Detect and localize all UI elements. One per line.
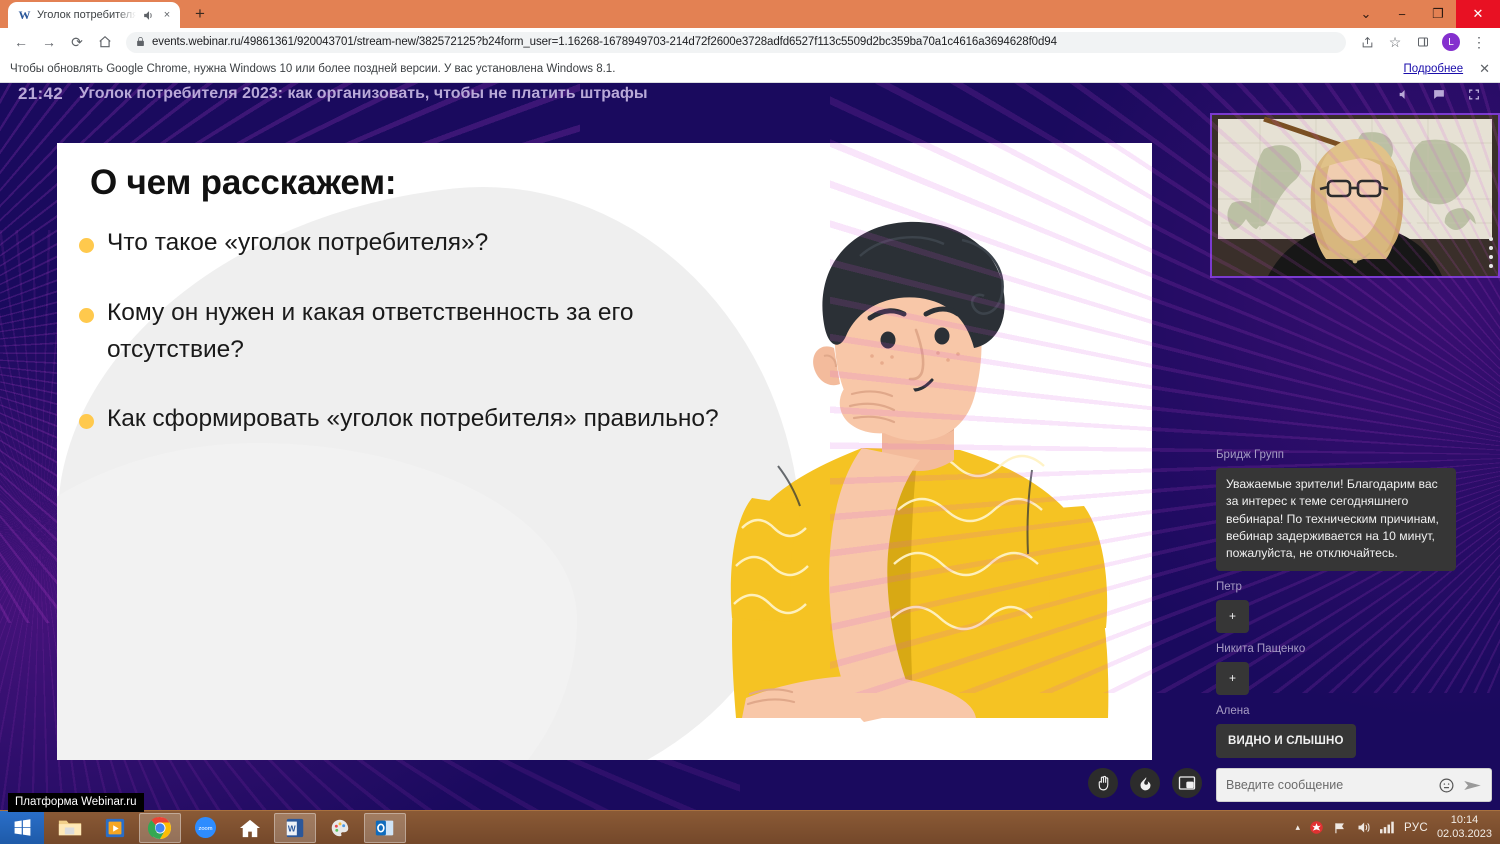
- tray-expand-icon[interactable]: ▴: [1295, 822, 1300, 833]
- chat-bubble: видно и слышно: [1216, 724, 1356, 758]
- new-tab-button[interactable]: +: [190, 4, 210, 24]
- taskbar-app-google-chrome[interactable]: [139, 813, 181, 843]
- slide-bullet-list: Что такое «уголок потребителя»? Кому он …: [79, 225, 719, 471]
- bullet-dot-icon: [79, 414, 94, 429]
- profile-avatar[interactable]: L: [1438, 29, 1464, 55]
- clock-date: 02.03.2023: [1437, 828, 1492, 842]
- security-alert-icon[interactable]: [1309, 820, 1324, 835]
- taskbar-app-home[interactable]: [229, 813, 271, 843]
- update-infobar: Чтобы обновлять Google Chrome, нужна Win…: [0, 56, 1500, 83]
- presenter-video-tile[interactable]: [1210, 113, 1500, 278]
- slide-bullet-item: Как сформировать «уголок потребителя» пр…: [79, 401, 719, 438]
- chat-author: Бридж Групп: [1216, 449, 1492, 461]
- taskbar-app-outlook[interactable]: [364, 813, 406, 843]
- taskbar-apps: zoom W: [44, 813, 406, 843]
- slide-bullet-text: Как сформировать «уголок потребителя» пр…: [107, 401, 719, 438]
- chat-author: Алена: [1216, 705, 1492, 717]
- browser-tab[interactable]: W Уголок потребителя 2023: к ×: [8, 2, 180, 28]
- language-indicator[interactable]: РУС: [1404, 822, 1428, 834]
- speaker-icon[interactable]: [1395, 87, 1412, 101]
- forward-icon[interactable]: →: [36, 29, 62, 55]
- bullet-dot-icon: [79, 308, 94, 323]
- chat-message: Петр +: [1216, 581, 1492, 633]
- browser-menu-icon[interactable]: ⋮: [1466, 29, 1492, 55]
- address-bar-url: events.webinar.ru/49861361/920043701/str…: [152, 36, 1057, 48]
- share-icon[interactable]: [1354, 29, 1380, 55]
- chat-bubble: Уважаемые зрители! Благодарим вас за инт…: [1216, 468, 1456, 571]
- video-tile-menu-dots-icon[interactable]: [1489, 237, 1493, 268]
- fullscreen-icon[interactable]: [1465, 87, 1482, 101]
- taskbar-app-media-player[interactable]: [94, 813, 136, 843]
- taskbar-app-zoom[interactable]: zoom: [184, 813, 226, 843]
- address-bar[interactable]: events.webinar.ru/49861361/920043701/str…: [126, 32, 1346, 53]
- infobar-more-link[interactable]: Подробнее: [1403, 63, 1463, 75]
- browser-tab-title: Уголок потребителя 2023: к: [37, 9, 136, 21]
- stream-header-icons: [1395, 87, 1482, 101]
- system-tray: ▴: [1295, 814, 1500, 842]
- bookmark-star-icon[interactable]: ☆: [1382, 29, 1408, 55]
- infobar-message: Чтобы обновлять Google Chrome, нужна Win…: [10, 63, 1403, 75]
- side-panel-icon[interactable]: [1410, 29, 1436, 55]
- back-icon[interactable]: ←: [8, 29, 34, 55]
- reload-icon[interactable]: ⟳: [64, 29, 90, 55]
- volume-icon[interactable]: [1356, 820, 1371, 835]
- infobar-close-icon[interactable]: ✕: [1479, 61, 1490, 77]
- chat-message: Никита Пащенко +: [1216, 643, 1492, 695]
- taskbar-tooltip: Платформа Webinar.ru: [8, 793, 144, 812]
- maximize-button[interactable]: ❐: [1420, 0, 1456, 28]
- close-window-button[interactable]: ✕: [1456, 0, 1500, 28]
- bullet-dot-icon: [79, 238, 94, 253]
- chat-message: Бридж Групп Уважаемые зрители! Благодари…: [1216, 449, 1492, 571]
- flag-icon[interactable]: [1333, 821, 1347, 835]
- thinking-man-illustration: [712, 198, 1132, 758]
- windows-taskbar: zoom W: [0, 810, 1500, 844]
- chat-author: Никита Пащенко: [1216, 643, 1492, 655]
- slide-bullet-text: Что такое «уголок потребителя»?: [107, 225, 488, 262]
- network-icon[interactable]: [1380, 821, 1395, 834]
- slide-bullet-item: Что такое «уголок потребителя»?: [79, 225, 719, 262]
- chat-input-row[interactable]: Введите сообщение: [1216, 768, 1492, 802]
- chat-panel: Бридж Групп Уважаемые зрители! Благодари…: [1208, 393, 1500, 810]
- webinar-page: 21:42 Уголок потребителя 2023: как орган…: [0, 83, 1500, 810]
- browser-toolbar: ← → ⟳ events.webinar.ru/49861361/9200437…: [0, 28, 1500, 56]
- taskbar-app-microsoft-word[interactable]: W: [274, 813, 316, 843]
- minimize-button[interactable]: −: [1384, 0, 1420, 28]
- emoji-icon[interactable]: [1438, 777, 1455, 794]
- tab-search-chevron-icon[interactable]: ⌄: [1348, 0, 1384, 28]
- picture-in-picture-button[interactable]: [1172, 768, 1202, 798]
- chat-bubble: +: [1216, 662, 1249, 695]
- tab-close-icon[interactable]: ×: [160, 8, 174, 22]
- slide-bullet-item: Кому он нужен и какая ответственность за…: [79, 295, 719, 369]
- send-icon[interactable]: [1463, 778, 1482, 793]
- reaction-fire-button[interactable]: [1130, 768, 1160, 798]
- window-controls: ⌄ − ❐ ✕: [1348, 0, 1500, 28]
- windows-start-icon[interactable]: [0, 811, 44, 844]
- screen: W Уголок потребителя 2023: к × + ⌄ − ❐ ✕…: [0, 0, 1500, 844]
- chat-bubble: +: [1216, 600, 1249, 633]
- raise-hand-button[interactable]: [1088, 768, 1118, 798]
- taskbar-app-paint[interactable]: [319, 813, 361, 843]
- svg-text:zoom: zoom: [198, 826, 212, 832]
- clock-time: 10:14: [1437, 814, 1492, 828]
- stream-timer: 21:42: [18, 84, 63, 104]
- stream-controls: [1088, 768, 1202, 798]
- chat-message-input[interactable]: Введите сообщение: [1226, 778, 1430, 792]
- presentation-slide[interactable]: О чем расскажем: Что такое «уголок потре…: [57, 143, 1152, 760]
- profile-initial: L: [1442, 33, 1460, 51]
- presenter-video-frame: [1212, 115, 1498, 276]
- chat-icon[interactable]: [1430, 87, 1447, 101]
- w-favicon-icon: W: [17, 8, 32, 23]
- chat-message: Алена видно и слышно: [1216, 705, 1492, 758]
- browser-tab-strip: W Уголок потребителя 2023: к × + ⌄ − ❐ ✕: [0, 0, 1500, 28]
- taskbar-clock[interactable]: 10:14 02.03.2023: [1437, 814, 1492, 842]
- slide-bullet-text: Кому он нужен и какая ответственность за…: [107, 295, 719, 369]
- stream-title: Уголок потребителя 2023: как организоват…: [79, 85, 1379, 103]
- lock-icon: [136, 36, 145, 49]
- slide-title: О чем расскажем:: [90, 163, 396, 203]
- stream-header: 21:42 Уголок потребителя 2023: как орган…: [0, 83, 1500, 105]
- svg-text:W: W: [288, 824, 296, 833]
- taskbar-app-file-explorer[interactable]: [49, 813, 91, 843]
- chat-author: Петр: [1216, 581, 1492, 593]
- home-icon[interactable]: [92, 29, 118, 55]
- speaker-icon[interactable]: [141, 8, 155, 22]
